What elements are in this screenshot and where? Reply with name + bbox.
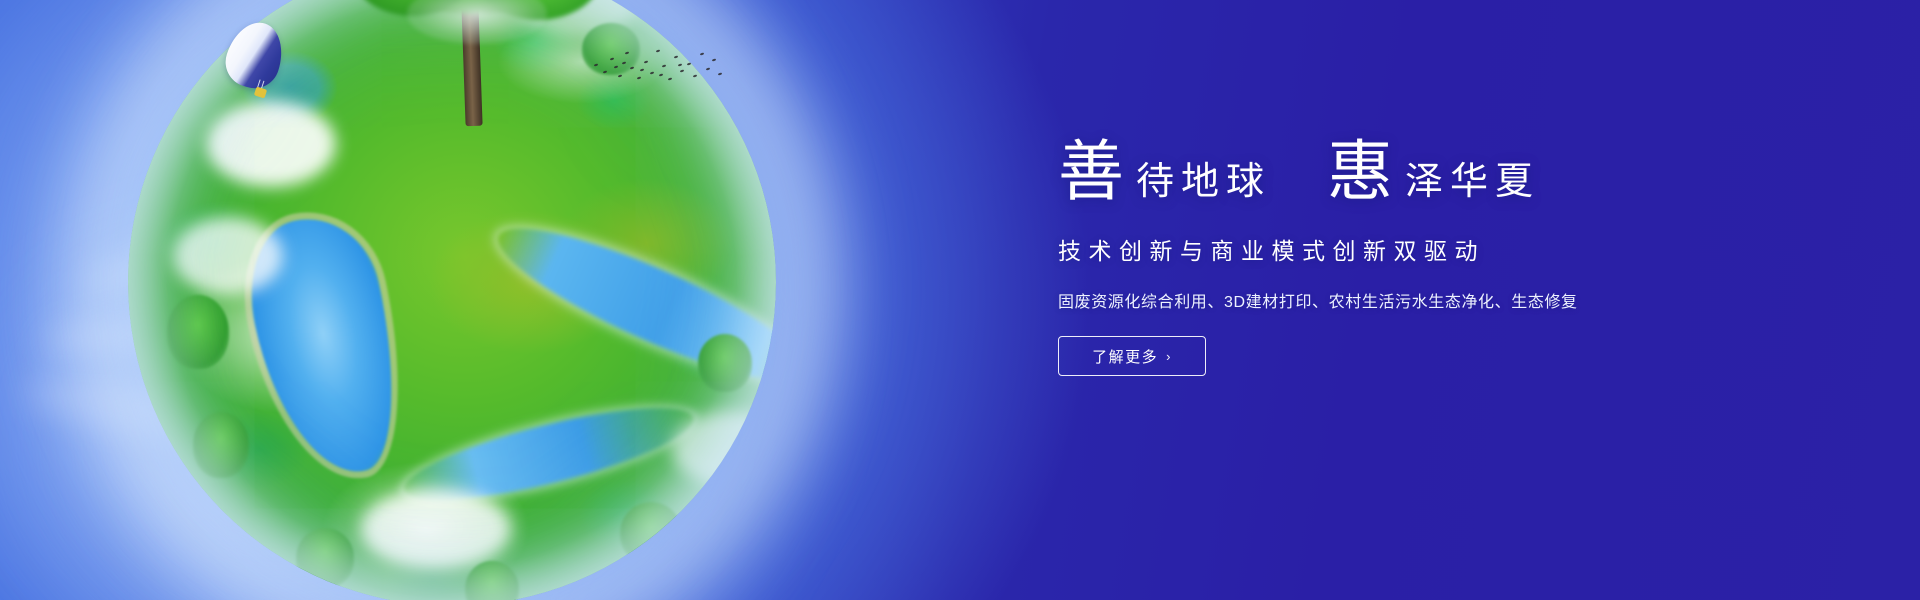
globe-cloud bbox=[173, 217, 283, 295]
globe-tree bbox=[296, 528, 354, 588]
bird-icon bbox=[662, 64, 666, 67]
bird-icon bbox=[650, 71, 654, 74]
bird-icon bbox=[656, 49, 660, 52]
bird-icon bbox=[637, 76, 641, 79]
globe-tree bbox=[193, 412, 249, 478]
bird-icon bbox=[674, 55, 678, 58]
bird-icon bbox=[718, 72, 722, 75]
bird-icon bbox=[614, 65, 618, 68]
bird-icon bbox=[680, 69, 684, 72]
bird-icon bbox=[622, 61, 626, 64]
bird-icon bbox=[678, 63, 682, 66]
page-title: 善 待地球 惠 泽华夏 bbox=[1058, 140, 1758, 206]
headline-rest-1: 待地球 bbox=[1124, 163, 1271, 206]
globe-tree bbox=[698, 334, 752, 392]
tree-icon bbox=[345, 0, 595, 128]
bird-icon bbox=[644, 60, 648, 63]
learn-more-label: 了解更多 bbox=[1092, 346, 1158, 367]
bird-icon bbox=[712, 58, 716, 61]
bird-icon bbox=[693, 74, 697, 77]
headline-char-2: 惠 bbox=[1327, 140, 1393, 206]
tree-mist bbox=[407, 0, 547, 44]
bird-icon bbox=[618, 74, 622, 77]
learn-more-button[interactable]: 了解更多 › bbox=[1058, 336, 1206, 376]
bird-icon bbox=[594, 63, 598, 66]
banner-copy: 善 待地球 惠 泽华夏 技术创新与商业模式创新双驱动 固废资源化综合利用、3D建… bbox=[1058, 140, 1758, 376]
globe-tree bbox=[167, 295, 229, 369]
headline-char-1: 善 bbox=[1058, 140, 1124, 206]
banner-subtitle: 技术创新与商业模式创新双驱动 bbox=[1058, 232, 1758, 266]
balloon-envelope bbox=[219, 15, 291, 94]
bird-icon bbox=[668, 77, 672, 80]
globe-cloud bbox=[672, 412, 776, 486]
globe-cloud bbox=[206, 101, 336, 187]
hot-air-balloon-icon bbox=[228, 22, 282, 108]
banner-description: 固废资源化综合利用、3D建材打印、农村生活污水生态净化、生态修复 bbox=[1058, 288, 1758, 312]
bird-icon bbox=[640, 68, 644, 71]
bird-icon bbox=[610, 57, 614, 60]
globe-tree bbox=[620, 502, 682, 564]
globe-cloud bbox=[361, 489, 511, 569]
bird-flock-icon bbox=[592, 44, 722, 88]
headline-rest-2: 泽华夏 bbox=[1393, 163, 1540, 206]
bird-icon bbox=[625, 51, 629, 54]
bird-icon bbox=[630, 66, 634, 69]
bird-icon bbox=[706, 67, 710, 70]
chevron-right-icon: › bbox=[1166, 349, 1172, 364]
bird-icon bbox=[603, 70, 607, 73]
bird-icon bbox=[687, 62, 691, 65]
bird-icon bbox=[659, 73, 663, 76]
hero-banner: 善 待地球 惠 泽华夏 技术创新与商业模式创新双驱动 固废资源化综合利用、3D建… bbox=[0, 0, 1920, 600]
bird-icon bbox=[700, 52, 704, 55]
balloon-basket bbox=[254, 87, 267, 99]
